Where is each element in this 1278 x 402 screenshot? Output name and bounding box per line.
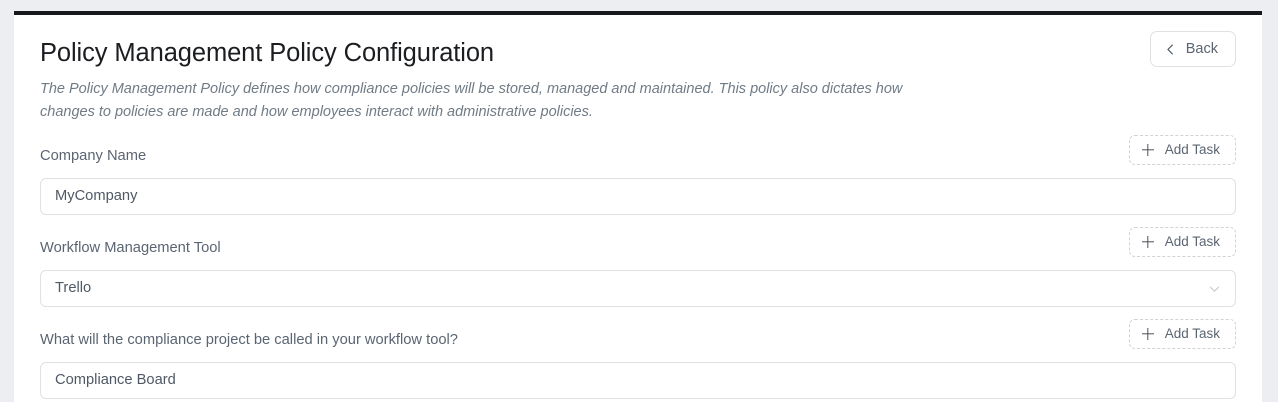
back-button[interactable]: Back: [1150, 31, 1236, 67]
compliance-project-input[interactable]: Compliance Board: [40, 362, 1236, 399]
card-content: Policy Management Policy Configuration T…: [14, 15, 1262, 402]
plus-icon: [1142, 328, 1154, 340]
page-description: The Policy Management Policy defines how…: [40, 78, 940, 124]
field-label: Company Name: [40, 145, 146, 167]
page-header: Policy Management Policy Configuration T…: [40, 15, 1236, 124]
company-name-value: MyCompany: [41, 189, 137, 204]
plus-icon: [1142, 144, 1154, 156]
add-task-label: Add Task: [1165, 143, 1220, 157]
compliance-project-value: Compliance Board: [41, 373, 176, 388]
add-task-button-workflow-tool[interactable]: Add Task: [1129, 227, 1236, 257]
chevron-left-icon: [1165, 44, 1176, 55]
page-title: Policy Management Policy Configuration: [40, 37, 940, 69]
add-task-button-company-name[interactable]: Add Task: [1129, 135, 1236, 165]
back-button-label: Back: [1186, 42, 1218, 57]
company-name-input[interactable]: MyCompany: [40, 178, 1236, 215]
plus-icon: [1142, 236, 1154, 248]
field-company-name: Company Name Add Task MyCompany: [40, 145, 1236, 215]
workflow-tool-value: Trello: [41, 281, 91, 296]
field-header: Workflow Management Tool Add Task: [40, 237, 1236, 259]
page-root: Policy Management Policy Configuration T…: [0, 0, 1278, 402]
field-header: Company Name Add Task: [40, 145, 1236, 167]
field-header: What will the compliance project be call…: [40, 329, 1236, 351]
field-compliance-project-name: What will the compliance project be call…: [40, 329, 1236, 399]
field-workflow-management-tool: Workflow Management Tool Add Task Trello: [40, 237, 1236, 307]
add-task-label: Add Task: [1165, 235, 1220, 249]
chevron-down-icon[interactable]: [1208, 282, 1221, 295]
field-label: Workflow Management Tool: [40, 237, 221, 259]
policy-configuration-card: Policy Management Policy Configuration T…: [14, 11, 1262, 402]
add-task-button-compliance-project[interactable]: Add Task: [1129, 319, 1236, 349]
field-label: What will the compliance project be call…: [40, 329, 458, 351]
workflow-tool-select[interactable]: Trello: [40, 270, 1236, 307]
add-task-label: Add Task: [1165, 327, 1220, 341]
